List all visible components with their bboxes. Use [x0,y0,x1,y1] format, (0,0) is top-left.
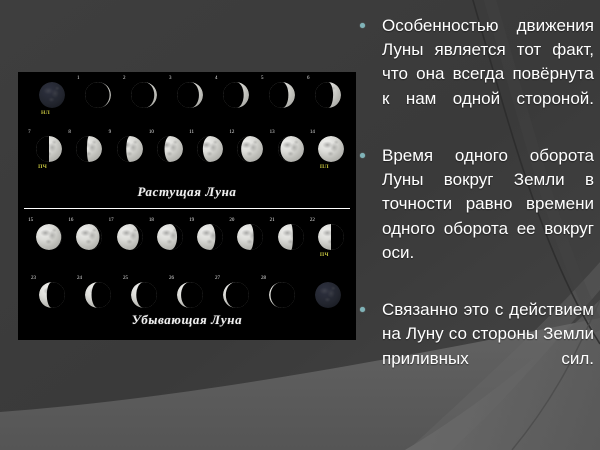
row-1-waxing-crescents: НЛ123456 [18,76,356,122]
moon-phase-cell: 10 [148,130,186,174]
moon-phase-cell: 1 [76,76,114,120]
moon-day-number: 17 [109,218,114,224]
moon-phase-label: ПЧ [320,252,329,258]
moon-shadow-overlay [36,136,62,162]
bullet-text-3: Связанно это с действием на Луну со стор… [382,298,594,395]
moon-day-number: 13 [270,130,275,136]
moon-phase-cell: 2 [122,76,160,120]
moon-disc [278,136,304,162]
moon-disc [117,136,143,162]
moon-phase-cell: 11 [188,130,226,174]
moon-day-number: 1 [77,76,80,82]
moon-disc [177,82,203,108]
moon-shadow-overlay [237,136,263,162]
moon-day-number: 7 [28,130,31,136]
bullet-item-3: Связанно это с действием на Луну со стор… [356,298,594,395]
moon-disc [223,82,249,108]
row-2-waxing-gibbous: 7ПЧ891011121314ПЛ [18,130,356,176]
moon-shadow-overlay [76,224,102,250]
moon-shadow-overlay [197,136,223,162]
moon-day-number: 11 [189,130,194,136]
moon-disc [76,136,102,162]
moon-day-number: 27 [215,276,220,282]
moon-day-number: 15 [28,218,33,224]
moon-disc [269,282,295,308]
presentation-slide: НЛ123456 7ПЧ891011121314ПЛ Растущая Луна… [0,0,600,450]
moon-disc [131,282,157,308]
moon-day-number: 23 [31,276,36,282]
moon-shadow-overlay [85,82,111,108]
moon-day-number: 10 [149,130,154,136]
moon-disc [223,282,249,308]
moon-disc [76,224,102,250]
moon-disc [117,224,143,250]
moon-shadow-overlay [315,82,341,108]
moon-phase-label: НЛ [41,110,50,116]
moon-shadow-overlay [131,282,157,308]
moon-phase-cell: 13 [269,130,307,174]
moon-disc [157,224,183,250]
bullet-dot-icon [360,23,365,28]
moon-disc [36,224,62,250]
moon-day-number: 28 [261,276,266,282]
waning-caption: Убывающая Луна [18,312,356,328]
moon-disc [278,224,304,250]
moon-day-number: 21 [270,218,275,224]
moon-shadow-overlay [197,224,223,250]
moon-day-number: 8 [68,130,71,136]
moon-phase-cell: 14ПЛ [309,130,347,174]
moon-shadow-overlay [157,224,183,250]
bullet-item-2: Время одного оборота Луны вокруг Земли в… [356,144,594,289]
moon-shadow-overlay [318,224,344,250]
moon-day-number: 26 [169,276,174,282]
moon-disc [36,136,62,162]
moon-phase-cell: 19 [188,218,226,262]
moon-shadow-overlay [85,282,111,308]
moon-day-number: 19 [189,218,194,224]
moon-maria [315,282,341,308]
moon-disc [177,282,203,308]
moon-phase-cell: 17 [108,218,146,262]
moon-day-number: 16 [68,218,73,224]
moon-phase-cell: 6 [306,76,344,120]
moon-maria [318,136,344,162]
moon-phase-cell: 15 [27,218,65,262]
moon-phase-cell: 3 [168,76,206,120]
moon-phase-label: ПЧ [38,164,47,170]
moon-disc [269,82,295,108]
moon-day-number: 6 [307,76,310,82]
moon-shadow-overlay [278,136,304,162]
moon-day-number: 24 [77,276,82,282]
moon-disc [39,82,65,108]
moon-disc [197,224,223,250]
moon-day-number: 2 [123,76,126,82]
moon-disc [315,282,341,308]
moon-day-number: 3 [169,76,172,82]
moon-disc [85,82,111,108]
moon-disc [318,136,344,162]
moon-shadow-overlay [223,282,249,308]
moon-disc [85,282,111,308]
moon-shadow-overlay [177,82,203,108]
moon-phase-cell: 7ПЧ [27,130,65,174]
moon-phases-image: НЛ123456 7ПЧ891011121314ПЛ Растущая Луна… [18,72,356,340]
moon-phase-cell: 5 [260,76,298,120]
moon-shadow-overlay [157,136,183,162]
bullet-dot-icon [360,153,365,158]
moon-phase-cell: 20 [228,218,266,262]
moon-phase-cell: 21 [269,218,307,262]
moon-phase-cell: 16 [67,218,105,262]
moon-day-number: 14 [310,130,315,136]
row-3-waning-gibbous: 1516171819202122ПЧ [18,218,356,264]
moon-phase-cell: 12 [228,130,266,174]
bullet-dot-icon [360,307,365,312]
moon-day-number: 9 [109,130,112,136]
moon-shadow-overlay [278,224,304,250]
moon-disc [237,136,263,162]
moon-disc [315,82,341,108]
moon-disc [131,82,157,108]
moon-phase-cell: 8 [67,130,105,174]
moon-day-number: 12 [229,130,234,136]
moon-disc [197,136,223,162]
waxing-caption: Растущая Луна [18,184,356,200]
moon-shadow-overlay [76,136,102,162]
moon-shadow-overlay [269,82,295,108]
moon-shadow-overlay [223,82,249,108]
moon-disc [318,224,344,250]
moon-disc [157,136,183,162]
bullet-text-1: Особенностью движения Луны является тот … [382,14,594,135]
bullet-item-1: Особенностью движения Луны является тот … [356,14,594,135]
moon-phase-cell: 4 [214,76,252,120]
moon-disc [237,224,263,250]
moon-shadow-overlay [177,282,203,308]
bullet-text-2: Время одного оборота Луны вокруг Земли в… [382,144,594,289]
moon-shadow-overlay [39,282,65,308]
moon-phase-cell: 22ПЧ [309,218,347,262]
moon-shadow-overlay [117,136,143,162]
moon-maria [39,82,65,108]
moon-shadow-overlay [237,224,263,250]
moon-phase-label: ПЛ [320,164,329,170]
moon-phase-cell: 9 [108,130,146,174]
moon-disc [39,282,65,308]
moon-day-number: 18 [149,218,154,224]
phase-divider [24,208,350,209]
moon-day-number: 25 [123,276,128,282]
moon-day-number: 22 [310,218,315,224]
moon-phase-cell: НЛ [30,76,68,120]
moon-shadow-overlay [269,282,295,308]
bullet-list: Особенностью движения Луны является тот … [356,14,594,404]
moon-shadow-overlay [131,82,157,108]
moon-phase-cell: 18 [148,218,186,262]
moon-day-number: 5 [261,76,264,82]
moon-shadow-overlay [117,224,143,250]
moon-shadow-overlay [36,224,62,250]
moon-day-number: 4 [215,76,218,82]
moon-day-number: 20 [229,218,234,224]
